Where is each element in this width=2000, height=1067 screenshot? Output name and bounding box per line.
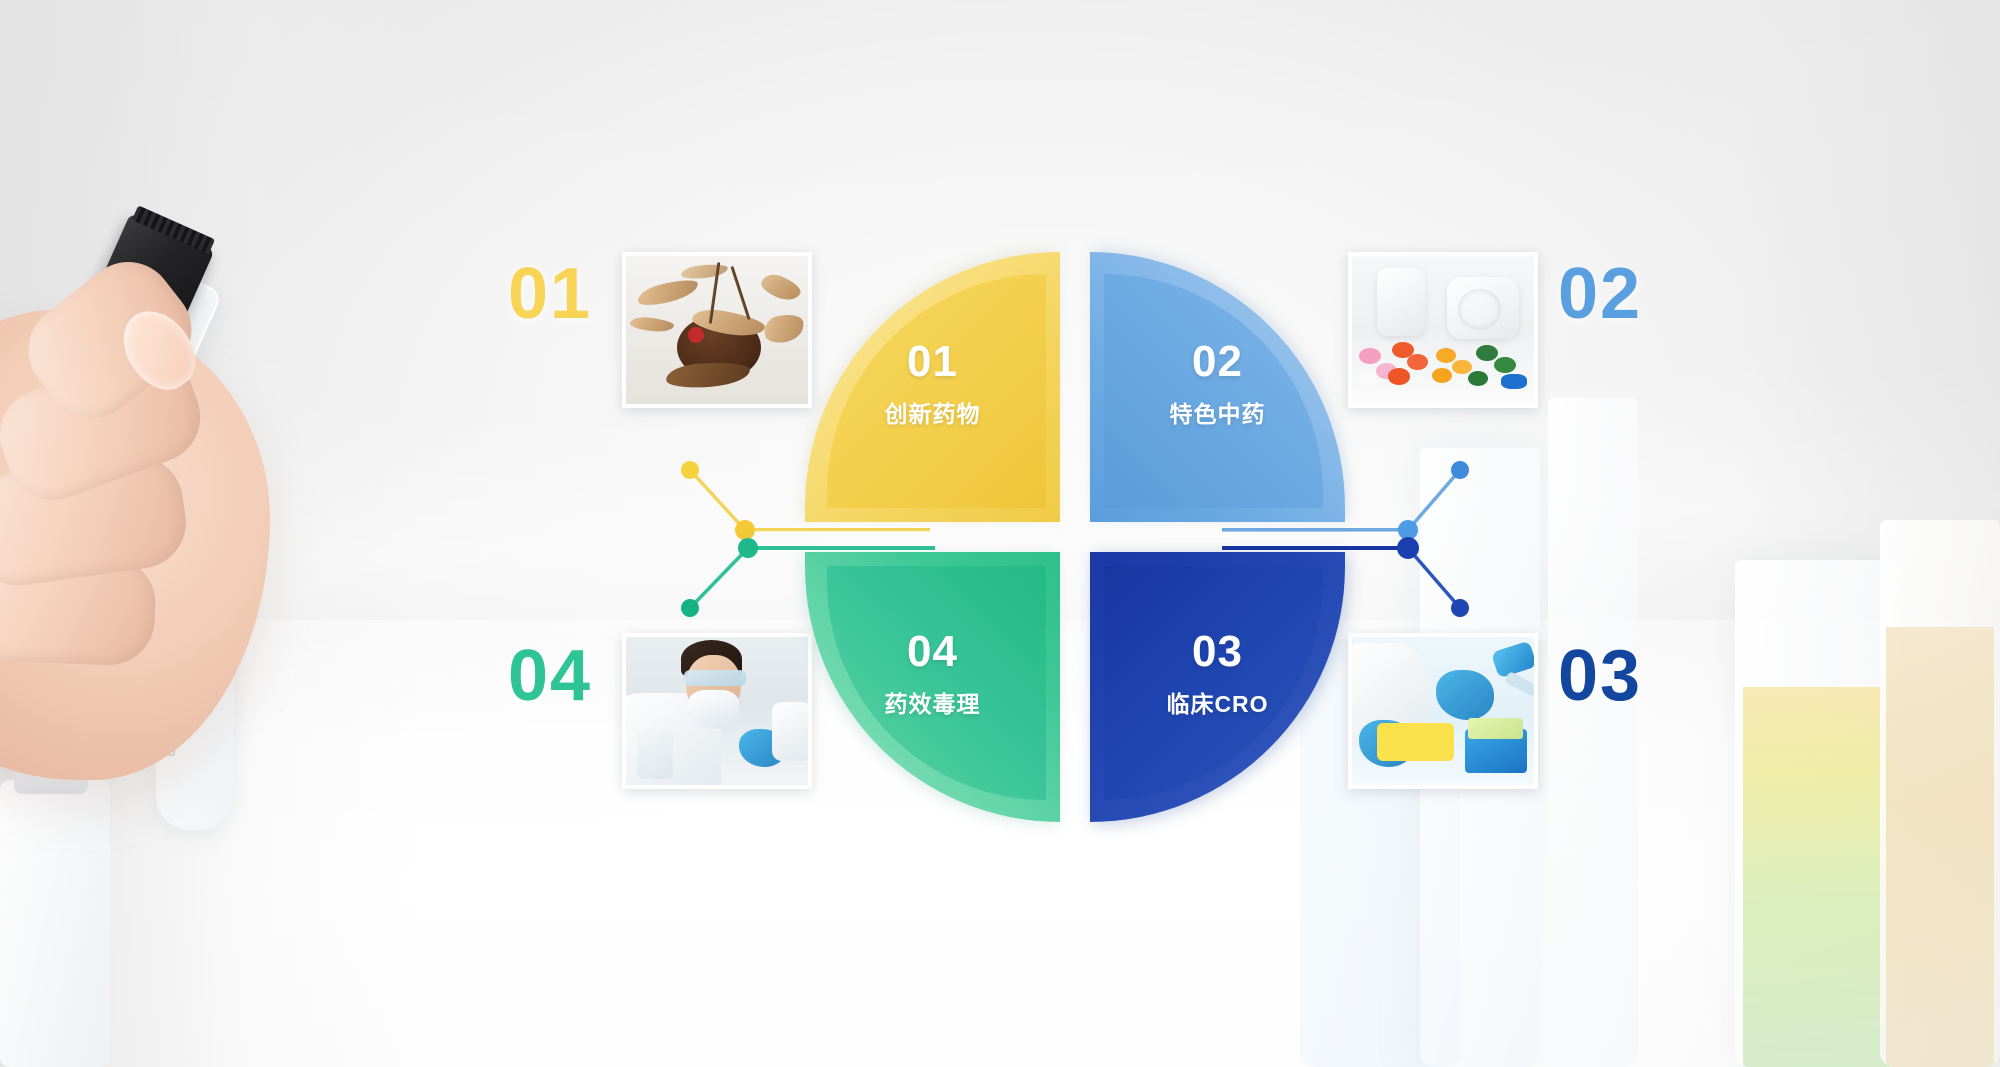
quadrant-wheel: 01 创新药物 02 特色中药 04 药效毒理 03 临床CRO bbox=[805, 252, 1345, 822]
yellow-capsules-pile bbox=[1377, 723, 1453, 761]
quadrant-02-title: 特色中药 bbox=[1090, 395, 1345, 429]
colored-pills-photo bbox=[1352, 256, 1534, 404]
capsule-sorting-photo bbox=[1352, 637, 1534, 785]
glassware-tube-4 bbox=[1880, 520, 2000, 1067]
quadrant-03-title: 临床CRO bbox=[1090, 685, 1345, 719]
pill-yellow-1 bbox=[1436, 348, 1456, 363]
thumbnail-herbal-medicine[interactable] bbox=[622, 252, 812, 408]
glassware-tube-2 bbox=[1548, 398, 1638, 1067]
pill-yellow-2 bbox=[1452, 360, 1472, 375]
quadrant-02-traditional-chinese-medicine[interactable]: 02 特色中药 bbox=[1090, 252, 1345, 522]
thumbnail-lab-researcher[interactable] bbox=[622, 633, 812, 789]
quadrant-04-title: 药效毒理 bbox=[805, 685, 1060, 719]
pill-orange-2 bbox=[1407, 354, 1429, 370]
safety-goggles bbox=[684, 670, 746, 686]
thumbnail-colored-pills[interactable] bbox=[1348, 252, 1538, 408]
quadrant-01-label: 01 创新药物 bbox=[805, 340, 1060, 429]
pill-white-1 bbox=[1357, 371, 1377, 386]
tool-handle bbox=[1504, 671, 1534, 697]
pill-blue-1 bbox=[1501, 374, 1526, 389]
face-mask bbox=[688, 690, 739, 728]
pill-green-3 bbox=[1468, 371, 1488, 386]
side-number-04: 04 bbox=[508, 640, 592, 712]
lab-researcher-photo bbox=[626, 637, 808, 785]
quadrant-02-number: 02 bbox=[1090, 340, 1345, 384]
pill-orange-3 bbox=[1388, 368, 1410, 384]
pill-green-2 bbox=[1494, 357, 1516, 373]
quadrant-04-label: 04 药效毒理 bbox=[805, 630, 1060, 719]
quadrant-04-pharmacology-toxicology[interactable]: 04 药效毒理 bbox=[805, 552, 1060, 822]
quadrant-01-number: 01 bbox=[805, 340, 1060, 384]
side-number-01: 01 bbox=[508, 258, 592, 330]
hand-holding-test-tube: 10 mL 5 bbox=[0, 250, 480, 950]
lab-bench-item bbox=[637, 729, 673, 779]
pill-bottle-back bbox=[1377, 268, 1424, 336]
quadrant-02-label: 02 特色中药 bbox=[1090, 340, 1345, 429]
thumbnail-capsule-sorting[interactable] bbox=[1348, 633, 1538, 789]
quadrant-01-innovative-drugs[interactable]: 01 创新药物 bbox=[805, 252, 1060, 522]
glassware-liquid-amber bbox=[1886, 627, 1994, 1067]
ginseng-root-5 bbox=[629, 316, 674, 334]
quadrant-03-clinical-cro[interactable]: 03 临床CRO bbox=[1090, 552, 1345, 822]
infographic-stage: 10 mL 5 bbox=[0, 0, 2000, 1067]
quadrant-03-number: 03 bbox=[1090, 630, 1345, 674]
dried-bark bbox=[665, 360, 750, 389]
bottle-cap bbox=[1458, 289, 1502, 330]
blue-glove-right bbox=[1436, 670, 1494, 720]
pill-yellow-3 bbox=[1432, 368, 1452, 383]
side-number-03: 03 bbox=[1558, 640, 1642, 712]
ginseng-root-3 bbox=[758, 270, 803, 304]
quadrant-04-number: 04 bbox=[805, 630, 1060, 674]
ginseng-root-1 bbox=[635, 275, 700, 309]
ginseng-root-6 bbox=[680, 262, 728, 280]
quadrant-01-title: 创新药物 bbox=[805, 395, 1060, 429]
glassware-tube-3 bbox=[1735, 560, 1900, 1067]
side-number-02: 02 bbox=[1558, 258, 1642, 330]
ginseng-root-4 bbox=[762, 311, 807, 345]
herbal-medicine-photo bbox=[626, 256, 808, 404]
glassware-liquid-green bbox=[1743, 687, 1892, 1067]
quadrant-03-label: 03 临床CRO bbox=[1090, 630, 1345, 719]
pill-pink-1 bbox=[1359, 348, 1381, 364]
lab-equipment bbox=[772, 702, 808, 761]
capsule-sheet bbox=[1468, 718, 1523, 739]
pill-green-1 bbox=[1476, 345, 1498, 361]
